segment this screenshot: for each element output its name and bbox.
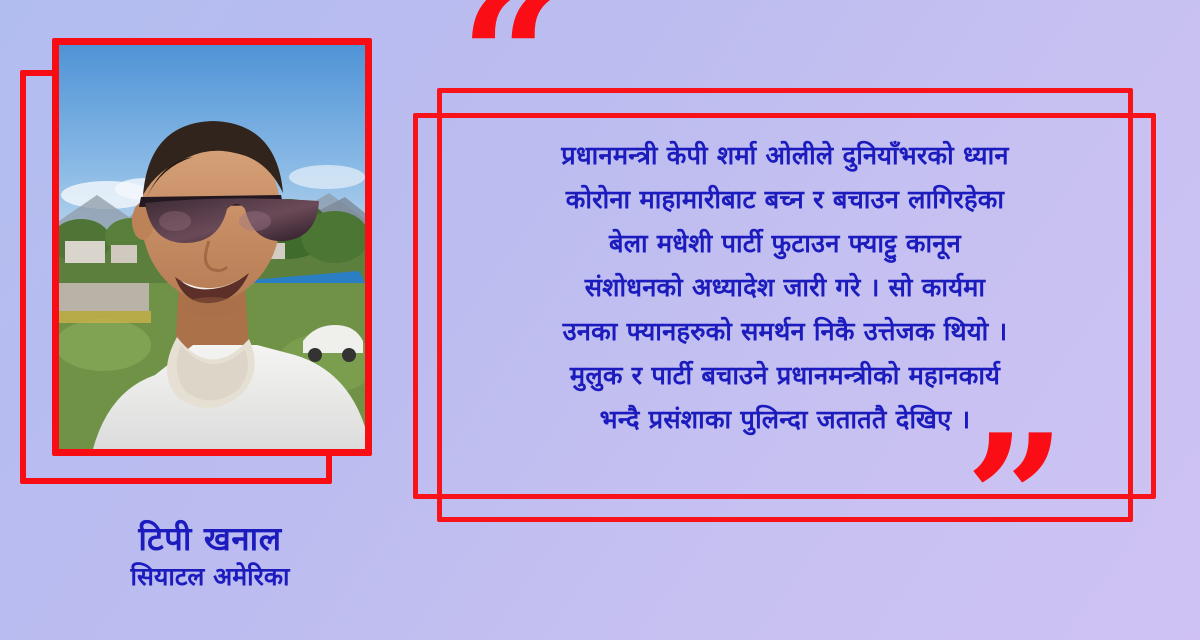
portrait-photo-illustration: [59, 45, 365, 449]
author-location: सियाटल अमेरिका: [20, 562, 400, 592]
quote-card: टिपी खनाल सियाटल अमेरिका “ प्रधानमन्त्री…: [0, 0, 1200, 640]
portrait-main-frame: [52, 38, 372, 456]
caption: टिपी खनाल सियाटल अमेरिका: [20, 520, 400, 592]
quote-line: प्रधानमन्त्री केपी शर्मा ओलीले दुनियाँभर…: [435, 134, 1135, 178]
quote-line: बेला मधेशी पार्टी फुटाउन फ्याट्टु कानून: [435, 222, 1135, 266]
quote-line: मुलुक र पार्टी बचाउने प्रधानमन्त्रीको मह…: [435, 354, 1135, 398]
quote-block: “ प्रधानमन्त्री केपी शर्मा ओलीले दुनियाँ…: [405, 12, 1195, 632]
quote-line: उनका फ्यानहरुको समर्थन निकै उत्तेजक थियो…: [435, 310, 1135, 354]
quote-close-mark: ”: [965, 412, 1066, 587]
portrait-photo: [59, 45, 365, 449]
quote-text: प्रधानमन्त्री केपी शर्मा ओलीले दुनियाँभर…: [435, 134, 1135, 442]
author-name: टिपी खनाल: [20, 520, 400, 558]
quote-open-mark: “: [460, 0, 561, 145]
portrait-block: [20, 38, 390, 508]
quote-line: संशोधनको अध्यादेश जारी गरे । सो कार्यमा: [435, 266, 1135, 310]
quote-line: कोरोना माहामारीबाट बच्न र बचाउन लागिरहेक…: [435, 178, 1135, 222]
